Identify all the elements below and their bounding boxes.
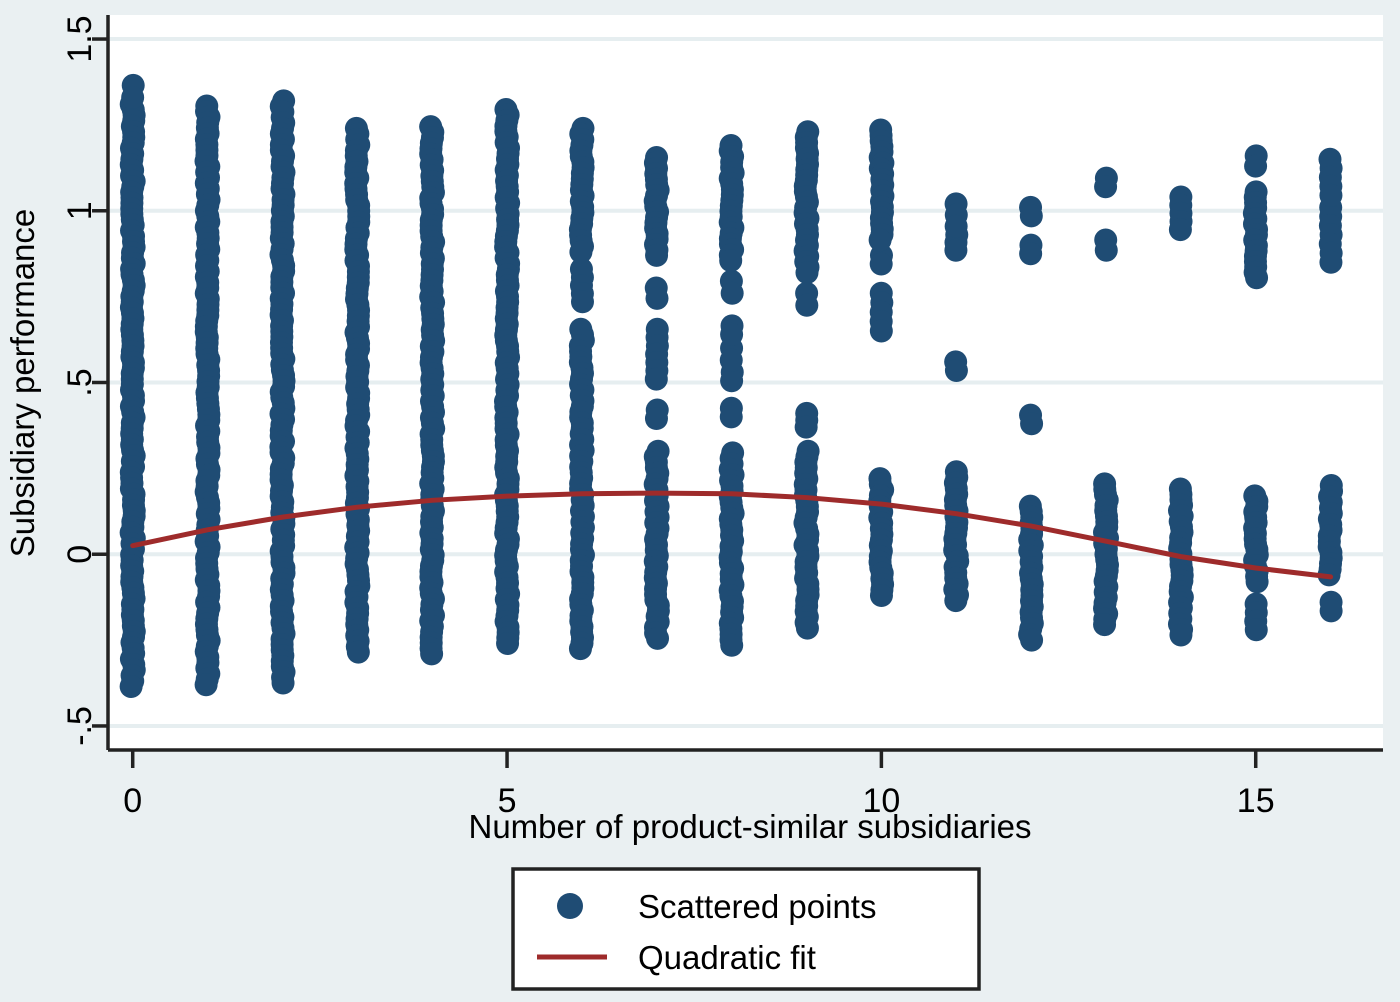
scatter-point [795, 416, 818, 439]
scatter-point [720, 349, 743, 372]
scatter-point [870, 319, 893, 342]
chart-legend: Scattered points Quadratic fit [513, 869, 979, 989]
scatter-point [347, 641, 370, 664]
y-tick-label-3: 1 [61, 201, 99, 220]
x-tick-label-0: 0 [123, 782, 142, 820]
scatter-point [121, 86, 144, 109]
scatter-point [870, 584, 893, 607]
scatter-column-x3 [344, 117, 370, 664]
scatter-point [1093, 613, 1116, 636]
scatter-point [1245, 618, 1268, 641]
scatter-point [1169, 623, 1192, 646]
legend-circle-marker-icon [557, 893, 583, 919]
scatter-point [1244, 155, 1267, 178]
scatter-point [796, 617, 819, 640]
scatter-point [721, 282, 744, 305]
chart-canvas: -.50.511.5 051015 Subsidiary performance… [0, 0, 1400, 1002]
scatter-point [120, 675, 143, 698]
scatter-chart-figure: -.50.511.5 051015 Subsidiary performance… [0, 0, 1400, 1002]
scatter-point [719, 249, 742, 272]
scatter-point [720, 323, 743, 346]
legend-label-quadratic-fit: Quadratic fit [638, 939, 816, 976]
scatter-column-x2 [269, 89, 295, 694]
scatter-point [870, 253, 893, 276]
scatter-point [645, 368, 668, 391]
scatter-column-x4 [419, 115, 445, 665]
scatter-point [1320, 599, 1343, 622]
scatter-point [1095, 239, 1118, 262]
scatter-point [646, 287, 669, 310]
scatter-point [571, 290, 594, 313]
scatter-point [944, 239, 967, 262]
y-tick-label-0: -.5 [61, 706, 99, 746]
scatter-point [645, 244, 668, 267]
scatter-point [569, 240, 592, 263]
scatter-point [795, 294, 818, 317]
scatter-point [1019, 242, 1042, 265]
scatter-point [645, 407, 668, 430]
y-tick-label-2: .5 [61, 368, 99, 396]
scatter-column-x5 [494, 98, 520, 655]
scatter-point [1020, 204, 1043, 227]
x-axis-title: Number of product-similar subsidiaries [468, 808, 1031, 845]
x-tick-label-3: 15 [1237, 782, 1275, 820]
scatter-point [1319, 184, 1342, 207]
scatter-point [944, 589, 967, 612]
scatter-column-x0 [120, 74, 146, 698]
scatter-point [945, 359, 968, 382]
scatter-point [496, 632, 519, 655]
scatter-point [720, 634, 743, 657]
y-axis-title: Subsidiary performance [4, 209, 41, 558]
legend-label-scattered-points: Scattered points [638, 888, 876, 925]
scatter-point [195, 673, 218, 696]
scatter-point [420, 642, 443, 665]
y-tick-label-4: 1.5 [61, 15, 99, 62]
scatter-column-x1 [195, 95, 221, 697]
scatter-point [1094, 175, 1117, 198]
scatter-point [1020, 629, 1043, 652]
y-tick-label-1: 0 [61, 545, 99, 564]
scatter-point [272, 672, 295, 695]
scatter-point [1246, 570, 1269, 593]
scatter-point [1245, 266, 1268, 289]
scatter-point [1169, 218, 1192, 241]
scatter-point [646, 627, 669, 650]
scatter-point [720, 405, 743, 428]
scatter-point [795, 261, 818, 284]
scatter-point [1319, 251, 1342, 274]
scatter-point [569, 637, 592, 660]
scatter-point [1020, 412, 1043, 435]
scatter-column-x6 [569, 117, 595, 660]
scatter-point [945, 215, 968, 238]
scatter-point [720, 369, 743, 392]
scatter-point [869, 228, 892, 251]
